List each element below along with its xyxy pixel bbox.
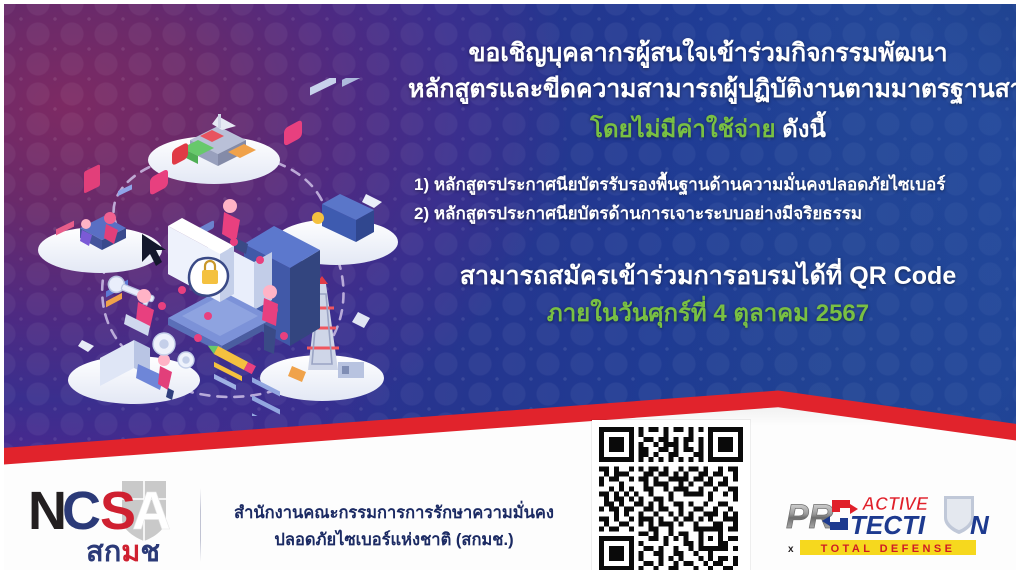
partner-word-n: N <box>970 510 990 540</box>
registration-deadline: ภายในวันศุกร์ที่ 4 ตุลาคม 2567 <box>408 296 1008 332</box>
course-item-1: 1) หลักสูตรประกาศนียบัตรรับรองพื้นฐานด้า… <box>414 170 1008 199</box>
free-of-charge-suffix: ดังนี้ <box>782 116 826 143</box>
free-of-charge-line: โดยไม่มีค่าใช้จ่าย ดังนี้ <box>408 109 1008 148</box>
footer-divider <box>200 488 201 562</box>
organization-name: สำนักงานคณะกรรมการการรักษาความมั่นคง ปลอ… <box>204 500 584 553</box>
headline-block: ขอเชิญบุคลากรผู้สนใจเข้าร่วมกิจกรรมพัฒนา… <box>408 36 1008 332</box>
ncsa-letter-s: S <box>100 481 136 541</box>
partner-word-tection: TECTI <box>850 510 926 540</box>
isometric-illustration <box>22 78 414 416</box>
qr-code-block[interactable] <box>592 420 750 570</box>
poster-root: ขอเชิญบุคลากรผู้สนใจเข้าร่วมกิจกรรมพัฒนา… <box>0 0 1020 574</box>
partner-prefix-x: x <box>788 544 794 555</box>
course-list: 1) หลักสูตรประกาศนียบัตรรับรองพื้นฐานด้า… <box>408 170 1008 228</box>
headline-line-1: ขอเชิญบุคลากรผู้สนใจเข้าร่วมกิจกรรมพัฒนา <box>408 36 1008 72</box>
headline-line-2: หลักสูตรและขีดความสามารถผู้ปฏิบัติงานตาม… <box>408 72 1008 108</box>
organization-line-1: สำนักงานคณะกรรมการการรักษาความมั่นคง <box>204 500 584 527</box>
partner-logo-protection: PR ACTIVE TECTI N x TOTAL DEFENSE <box>784 488 996 562</box>
partner-word-pro: PR <box>786 498 834 536</box>
poster-canvas: ขอเชิญบุคลากรผู้สนใจเข้าร่วมกิจกรรมพัฒนา… <box>4 4 1016 570</box>
call-to-action-block: สามารถสมัครเข้าร่วมการอบรมได้ที่ QR Code… <box>408 258 1008 332</box>
ncsa-letter-a: A <box>132 481 171 541</box>
course-item-2: 2) หลักสูตรประกาศนียบัตรด้านการเจาะระบบอ… <box>414 199 1008 228</box>
cta-line: สามารถสมัครเข้าร่วมการอบรมได้ที่ QR Code <box>408 258 1008 296</box>
partner-tagline: TOTAL DEFENSE <box>821 543 956 555</box>
ncsa-thai-abbr: สกมช <box>86 536 160 568</box>
free-of-charge-text: โดยไม่มีค่าใช้จ่าย <box>590 116 775 143</box>
registration-qr-code[interactable] <box>599 427 743 570</box>
ncsa-logo: N C S A สกมช <box>26 477 194 569</box>
organization-line-2: ปลอดภัยไซเบอร์แห่งชาติ (สกมช.) <box>204 527 584 554</box>
ncsa-letter-c: C <box>62 481 101 541</box>
